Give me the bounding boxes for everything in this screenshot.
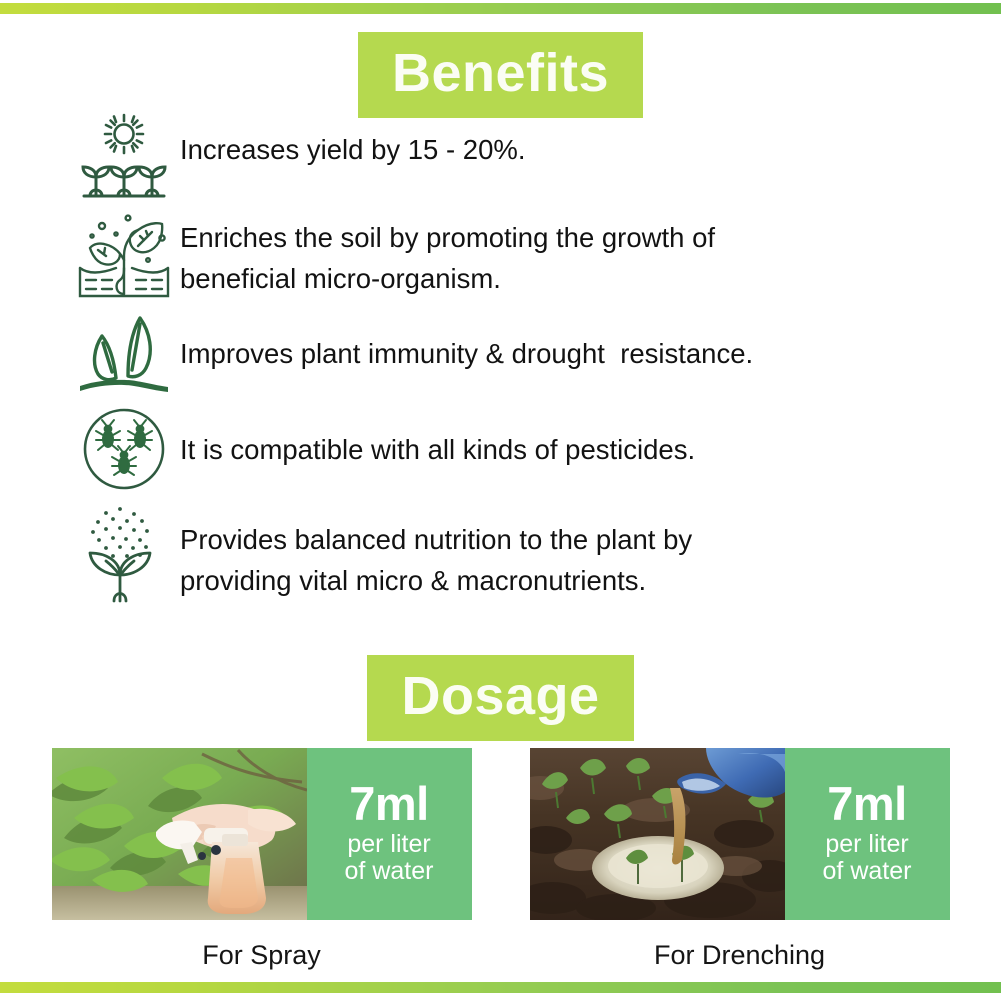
benefit-item: Provides balanced nutrition to the plant…	[68, 502, 948, 606]
dosage-card-spray: 7ml per liter of water For Spray	[52, 748, 472, 971]
benefit-text: Enriches the soil by promoting the growt…	[180, 208, 948, 299]
benefit-item: Improves plant immunity & drought resist…	[68, 308, 948, 396]
benefits-list: Increases yield by 15 - 20%.	[68, 108, 948, 614]
dosage-unit-line2: of water	[823, 858, 912, 885]
dosage-card-drenching: 7ml per liter of water For Drenching	[530, 748, 950, 971]
benefit-text: Increases yield by 15 - 20%.	[180, 108, 948, 171]
watering-can-drenching-soil-photo	[530, 748, 785, 920]
benefit-text: It is compatible with all kinds of pesti…	[180, 404, 948, 471]
insects-in-circle-icon	[68, 404, 180, 494]
benefit-text: Improves plant immunity & drought resist…	[180, 308, 948, 375]
plant-in-soil-layers-icon	[68, 208, 180, 300]
dosage-unit-line1: per liter	[823, 831, 912, 858]
dosage-panel-drenching: 7ml per liter of water	[785, 748, 950, 920]
dosage-section: 7ml per liter of water For Spray	[0, 748, 1001, 971]
dosage-unit: per liter of water	[823, 831, 912, 885]
dosage-caption: For Drenching	[530, 940, 950, 971]
benefit-text: Provides balanced nutrition to the plant…	[180, 502, 948, 601]
dosage-unit-line1: per liter	[345, 831, 434, 858]
bottom-accent-bar	[0, 982, 1001, 993]
dosage-caption: For Spray	[52, 940, 472, 971]
sun-over-seedlings-icon	[68, 108, 180, 200]
dosage-banner: Dosage	[0, 655, 1001, 741]
benefit-item: It is compatible with all kinds of pesti…	[68, 404, 948, 494]
dosage-unit-line2: of water	[345, 858, 434, 885]
dosage-amount: 7ml	[349, 780, 429, 827]
dosage-heading: Dosage	[367, 655, 633, 741]
dosage-panel-spray: 7ml per liter of water	[307, 748, 472, 920]
hand-spraying-plants-photo	[52, 748, 307, 920]
benefits-banner: Benefits	[0, 32, 1001, 118]
benefit-item: Enriches the soil by promoting the growt…	[68, 208, 948, 300]
benefits-heading: Benefits	[358, 32, 643, 118]
top-accent-bar	[0, 3, 1001, 14]
nutrients-sprinkle-plant-icon	[68, 502, 180, 606]
dosage-amount: 7ml	[827, 780, 907, 827]
benefit-item: Increases yield by 15 - 20%.	[68, 108, 948, 200]
two-leaves-on-ground-icon	[68, 308, 180, 396]
dosage-unit: per liter of water	[345, 831, 434, 885]
